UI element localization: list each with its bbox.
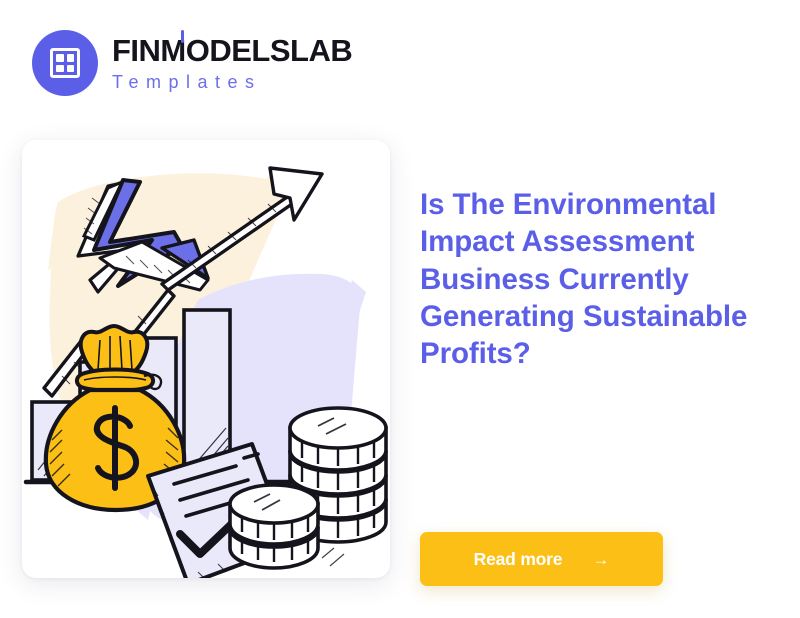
read-more-button[interactable]: Read more → — [420, 532, 663, 586]
illustration-card — [22, 140, 390, 578]
promo-banner: FINMODELSLAB Templates — [0, 0, 800, 618]
grid-squares-icon-inner — [50, 48, 80, 78]
brand-wordmark: FINMODELSLAB Templates — [112, 35, 352, 91]
grid-cell — [56, 54, 64, 62]
power-button-icon — [181, 30, 184, 43]
page-title: Is The Environmental Impact Assessment B… — [420, 186, 770, 373]
brand-name: FINMODELSLAB — [112, 35, 352, 66]
brand-subtitle: Templates — [112, 73, 352, 91]
headline-block: Is The Environmental Impact Assessment B… — [420, 186, 770, 373]
grid-cell — [67, 65, 75, 73]
arrow-right-icon: → — [592, 551, 609, 568]
grid-cell — [67, 54, 75, 62]
brand-name-text: FINMODELSLAB — [112, 33, 352, 68]
read-more-label: Read more — [474, 549, 563, 570]
grid-cell — [56, 65, 64, 73]
finance-growth-illustration — [22, 140, 390, 578]
brand-logo[interactable]: FINMODELSLAB Templates — [32, 30, 352, 96]
grid-squares-icon — [32, 30, 98, 96]
